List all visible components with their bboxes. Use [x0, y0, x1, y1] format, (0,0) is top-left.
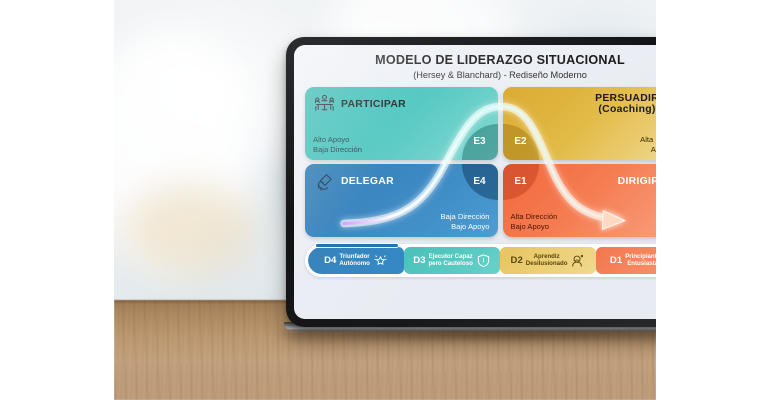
- pointing-hand-icon: [313, 170, 336, 193]
- meeting-table-icon: [313, 93, 336, 116]
- sad-person-icon: [570, 253, 585, 268]
- development-level-d3[interactable]: D3 Ejecutor Capaz pero Cauteloso: [404, 247, 500, 274]
- screenshot-root: MODELO DE LIDERAZGO SITUACIONAL (Hersey …: [0, 0, 770, 400]
- page-subtitle: (Hersey & Blanchard) - Rediseño Moderno: [305, 70, 656, 80]
- star-sparkle-icon: [373, 253, 388, 268]
- quadrant-delegar[interactable]: DELEGAR Baja Dirección Bajo Apoyo E4: [305, 164, 498, 237]
- quadrant-subtitle: Alta Dirección Alto Apoyo: [640, 135, 656, 154]
- quadrant-subtitle: Baja Dirección Bajo Apoyo: [441, 212, 490, 231]
- development-segments: D4 Triunfador Autónomo: [308, 247, 656, 274]
- quadrant-header: DELEGAR: [305, 164, 498, 193]
- tablet-device: MODELO DE LIDERAZGO SITUACIONAL (Hersey …: [286, 37, 656, 327]
- level-label: Aprendiz Desilusionado: [526, 253, 568, 267]
- presentation-slide: MODELO DE LIDERAZGO SITUACIONAL (Hersey …: [294, 45, 656, 319]
- quadrant-title: PERSUADIR (Coaching): [595, 93, 656, 115]
- quadrant-header: PARTICIPAR: [305, 87, 498, 116]
- level-code: D2: [511, 255, 523, 266]
- development-level-d4[interactable]: D4 Triunfador Autónomo: [308, 247, 404, 274]
- background-blur-blob: [125, 185, 255, 275]
- level-code: D4: [324, 255, 336, 266]
- progress-track[interactable]: [315, 243, 399, 248]
- page-title: MODELO DE LIDERAZGO SITUACIONAL: [305, 54, 656, 68]
- shield-icon: [476, 253, 491, 268]
- level-code: D3: [413, 255, 425, 266]
- level-code: D1: [610, 255, 622, 266]
- quadrant-title: PARTICIPAR: [341, 99, 406, 110]
- quadrant-header: PERSUADIR (Coaching): [503, 87, 657, 116]
- quadrant-header: DIRIGIR: [503, 164, 657, 193]
- tablet-screen: MODELO DE LIDERAZGO SITUACIONAL (Hersey …: [294, 45, 656, 319]
- development-level-bar: D4 Triunfador Autónomo: [305, 244, 656, 277]
- quadrant-title: DELEGAR: [341, 176, 394, 187]
- quadrant-participar[interactable]: PARTICIPAR Alto Apoyo Baja Dirección E3: [305, 87, 498, 160]
- style-badge-label: E3: [473, 136, 485, 147]
- quadrant-subtitle: Alta Dirección Bajo Apoyo: [511, 212, 558, 231]
- quadrant-persuadir[interactable]: PERSUADIR (Coaching): [503, 87, 657, 160]
- style-badge-label: E2: [514, 136, 526, 147]
- level-label: Ejecutor Capaz pero Cauteloso: [428, 253, 472, 267]
- level-label: Principiante Entusiasta: [625, 253, 656, 267]
- progress-fill: [316, 244, 398, 247]
- quadrant-title: DIRIGIR: [618, 176, 656, 187]
- development-level-d2[interactable]: D2 Aprendiz Desilusionado: [500, 247, 596, 274]
- level-label: Triunfador Autónomo: [339, 253, 369, 267]
- office-background-photo: MODELO DE LIDERAZGO SITUACIONAL (Hersey …: [114, 0, 656, 400]
- development-level-d1[interactable]: D1 Principiante Entusiasta: [596, 247, 656, 274]
- style-badge-e3: E3: [462, 124, 498, 160]
- quadrant-subtitle: Alto Apoyo Baja Dirección: [313, 135, 362, 154]
- quadrant-dirigir[interactable]: DIRIGIR Alta Di: [503, 164, 657, 237]
- style-badge-e2: E2: [503, 124, 539, 160]
- leadership-matrix: PARTICIPAR Alto Apoyo Baja Dirección E3 …: [305, 87, 656, 237]
